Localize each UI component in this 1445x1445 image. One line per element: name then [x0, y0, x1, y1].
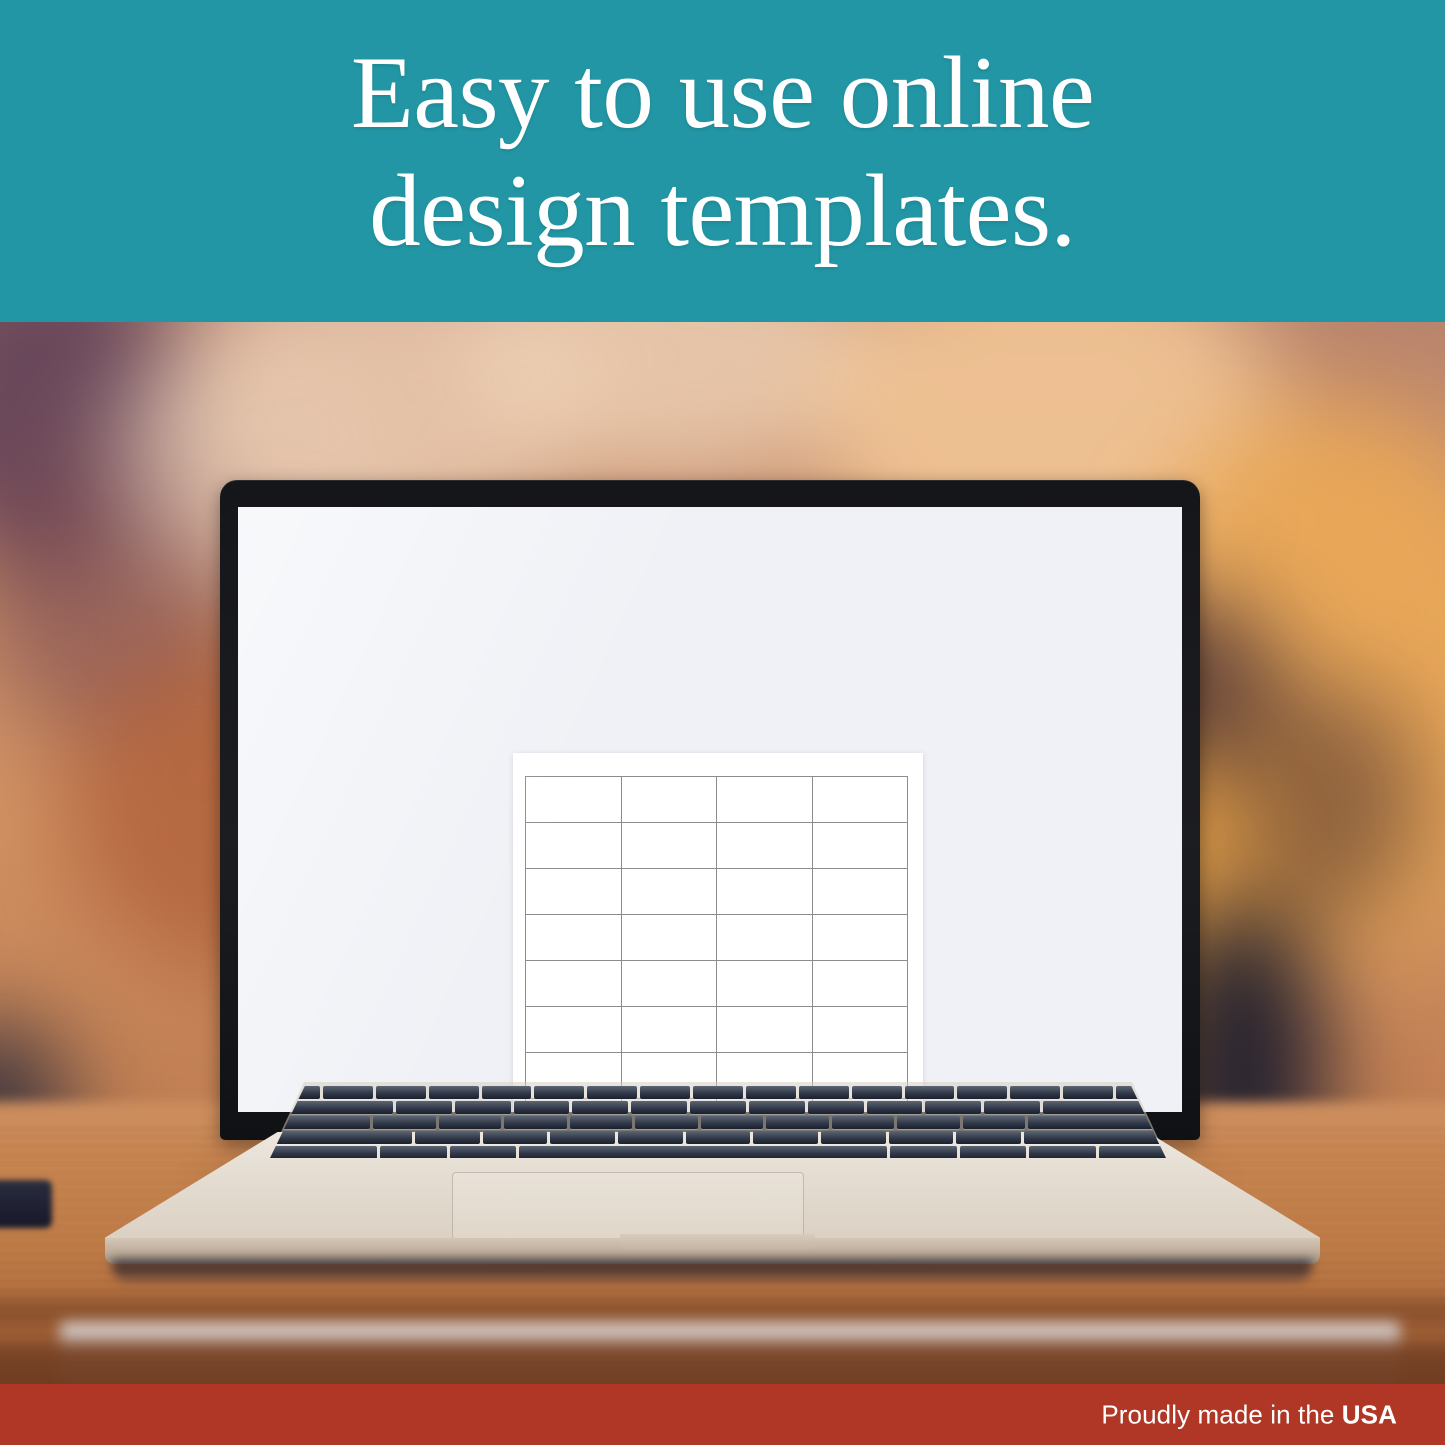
spacebar-key[interactable] — [519, 1146, 886, 1159]
label-cell[interactable] — [622, 961, 718, 1007]
key[interactable] — [482, 1086, 532, 1099]
label-cell[interactable] — [813, 823, 909, 869]
key[interactable] — [635, 1116, 698, 1129]
label-cell[interactable] — [813, 869, 909, 915]
key[interactable] — [905, 1086, 955, 1099]
key[interactable] — [640, 1086, 690, 1099]
label-cell[interactable] — [717, 961, 813, 1007]
photo-scene: ***PLEASE READ INSTRUCTIONS FOR HOW TO R… — [0, 322, 1445, 1384]
key[interactable] — [693, 1086, 743, 1099]
key[interactable] — [483, 1131, 548, 1144]
label-cell[interactable] — [717, 823, 813, 869]
marketing-image: ***PLEASE READ INSTRUCTIONS FOR HOW TO R… — [0, 0, 1445, 1445]
key[interactable] — [373, 1116, 436, 1129]
key[interactable] — [396, 1101, 452, 1114]
key[interactable] — [1010, 1086, 1060, 1099]
laptop-under-shadow — [112, 1260, 1312, 1282]
key[interactable] — [852, 1086, 902, 1099]
laptop: ***PLEASE READ INSTRUCTIONS FOR HOW TO R… — [0, 322, 1445, 1384]
label-cell[interactable] — [526, 915, 622, 961]
laptop-screen[interactable]: ***PLEASE READ INSTRUCTIONS FOR HOW TO R… — [238, 507, 1182, 1112]
label-cell[interactable] — [717, 777, 813, 823]
key[interactable] — [439, 1116, 502, 1129]
label-cell[interactable] — [813, 1007, 909, 1053]
label-cell[interactable] — [622, 915, 718, 961]
key[interactable] — [1024, 1131, 1166, 1144]
key[interactable] — [897, 1116, 960, 1129]
key[interactable] — [889, 1131, 954, 1144]
key[interactable] — [984, 1101, 1040, 1114]
key[interactable] — [956, 1131, 1021, 1144]
label-cell[interactable] — [622, 777, 718, 823]
made-in-prefix: Proudly made in the — [1101, 1399, 1341, 1429]
key[interactable] — [323, 1086, 373, 1099]
bottom-banner: Proudly made in the USA — [0, 1384, 1445, 1445]
key[interactable] — [749, 1101, 805, 1114]
table-foreground — [0, 1342, 1445, 1384]
made-in-usa-text: Proudly made in the USA — [1101, 1399, 1397, 1430]
headline-line-2: design templates. — [0, 152, 1445, 270]
key[interactable] — [415, 1131, 480, 1144]
key[interactable] — [686, 1131, 751, 1144]
label-cell[interactable] — [526, 777, 622, 823]
label-cell[interactable] — [813, 915, 909, 961]
key[interactable] — [890, 1146, 957, 1159]
key[interactable] — [550, 1131, 615, 1144]
key[interactable] — [450, 1146, 517, 1159]
key[interactable] — [618, 1131, 683, 1144]
laptop-lid-notch — [620, 1234, 815, 1250]
keyboard[interactable] — [270, 1084, 1166, 1158]
label-template-document[interactable]: ***PLEASE READ INSTRUCTIONS FOR HOW TO R… — [513, 753, 923, 1112]
label-cell[interactable] — [526, 823, 622, 869]
label-cell[interactable] — [622, 1007, 718, 1053]
top-banner: Easy to use online design templates. — [0, 0, 1445, 322]
headline-line-1: Easy to use online — [0, 34, 1445, 152]
label-cell[interactable] — [622, 823, 718, 869]
key[interactable] — [534, 1086, 584, 1099]
label-cell[interactable] — [717, 1007, 813, 1053]
key[interactable] — [963, 1116, 1026, 1129]
key[interactable] — [957, 1086, 1007, 1099]
label-cell[interactable] — [526, 869, 622, 915]
key[interactable] — [867, 1101, 923, 1114]
key[interactable] — [821, 1131, 886, 1144]
key[interactable] — [753, 1131, 818, 1144]
label-cell[interactable] — [526, 961, 622, 1007]
key[interactable] — [1028, 1116, 1166, 1129]
key[interactable] — [587, 1086, 637, 1099]
label-cell[interactable] — [813, 961, 909, 1007]
key[interactable] — [570, 1116, 633, 1129]
key[interactable] — [429, 1086, 479, 1099]
made-in-usa-bold: USA — [1342, 1399, 1397, 1429]
key[interactable] — [746, 1086, 796, 1099]
key[interactable] — [832, 1116, 895, 1129]
key[interactable] — [701, 1116, 764, 1129]
key[interactable] — [960, 1146, 1027, 1159]
key[interactable] — [808, 1101, 864, 1114]
headline: Easy to use online design templates. — [0, 34, 1445, 270]
key[interactable] — [270, 1131, 412, 1144]
label-cell[interactable] — [717, 915, 813, 961]
key[interactable] — [455, 1101, 511, 1114]
key[interactable] — [631, 1101, 687, 1114]
key[interactable] — [925, 1101, 981, 1114]
key[interactable] — [504, 1116, 567, 1129]
key[interactable] — [1029, 1146, 1096, 1159]
key[interactable] — [766, 1116, 829, 1129]
label-cell[interactable] — [526, 1007, 622, 1053]
key[interactable] — [270, 1146, 377, 1159]
label-cell[interactable] — [717, 869, 813, 915]
key[interactable] — [380, 1146, 447, 1159]
trackpad[interactable] — [452, 1172, 804, 1240]
label-grid[interactable] — [525, 776, 908, 1112]
desk-object — [0, 1180, 52, 1228]
label-cell[interactable] — [813, 777, 909, 823]
key[interactable] — [572, 1101, 628, 1114]
key[interactable] — [514, 1101, 570, 1114]
key[interactable] — [1099, 1146, 1166, 1159]
key[interactable] — [1063, 1086, 1113, 1099]
key[interactable] — [799, 1086, 849, 1099]
key[interactable] — [690, 1101, 746, 1114]
label-cell[interactable] — [622, 869, 718, 915]
key[interactable] — [376, 1086, 426, 1099]
